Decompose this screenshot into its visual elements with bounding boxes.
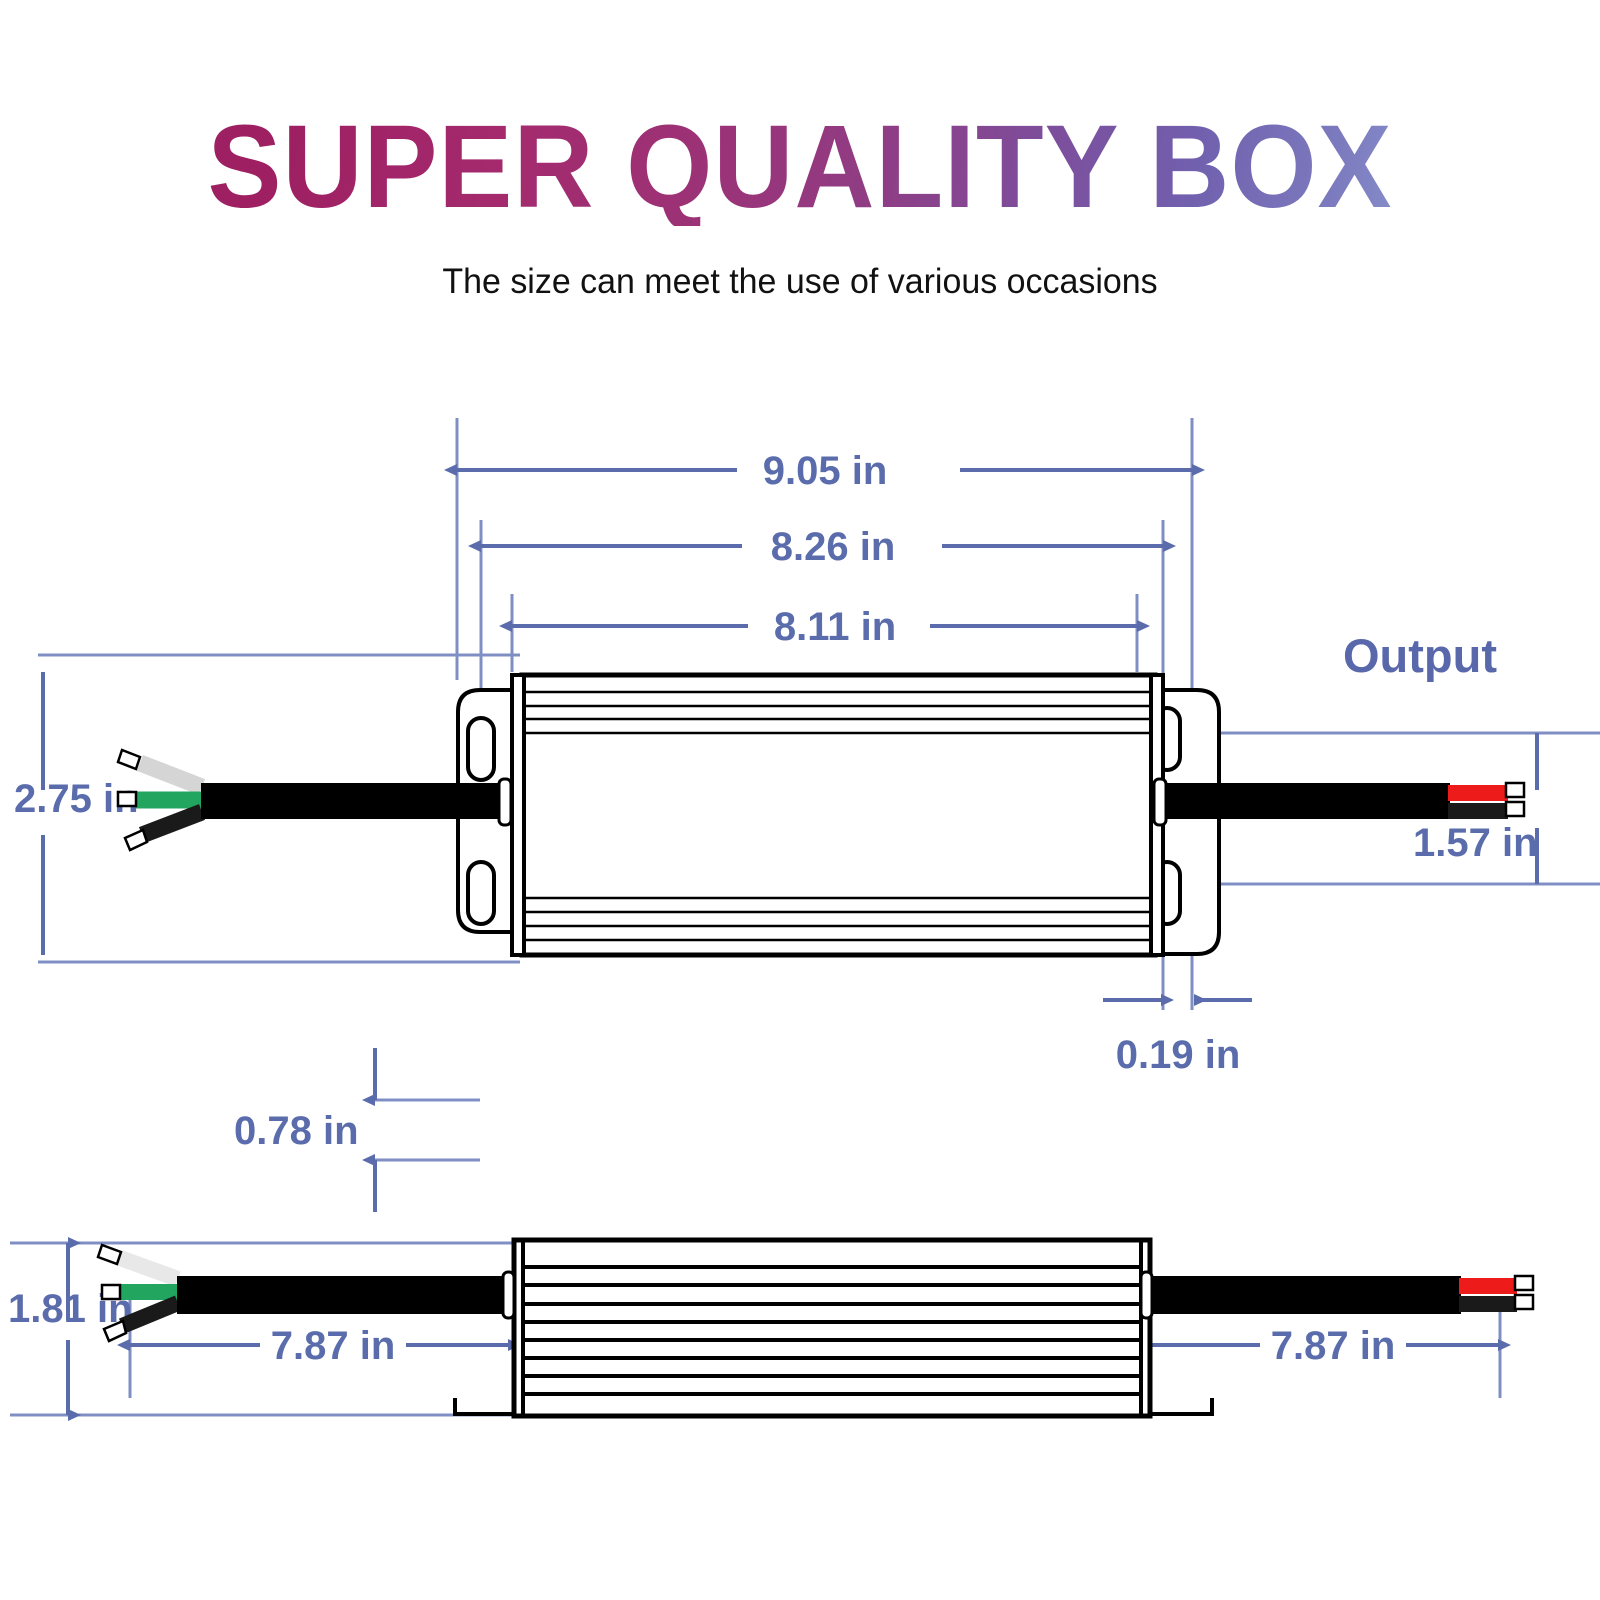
output-label: Output <box>1343 629 1497 682</box>
diagram-page: SUPER QUALITY BOX The size can meet the … <box>0 0 1600 1600</box>
dimension-label: 8.11 in <box>774 605 896 649</box>
wire-red <box>1459 1278 1517 1294</box>
dimension-label: 7.87 in <box>1271 1324 1396 1368</box>
dimension-label: 0.19 in <box>1116 1033 1241 1077</box>
conductor-tip-green <box>118 792 136 806</box>
wire-red <box>1448 785 1508 801</box>
cable-grommet-output <box>1154 779 1166 825</box>
technical-drawing: 9.05 in 8.26 in 8.11 in 2.75 in <box>0 0 1600 1600</box>
conductor-tip-black <box>125 830 147 850</box>
dimension-label: 0.78 in <box>234 1109 359 1153</box>
mounting-slot-bottom-left <box>468 862 494 924</box>
cable-jacket-input <box>201 783 511 819</box>
cable-jacket-output <box>1151 1276 1461 1314</box>
dimension-8-11: 8.11 in <box>512 605 1137 649</box>
dimension-label: 1.57 in <box>1413 821 1538 865</box>
mounting-slot-top-left <box>468 718 494 780</box>
conductor-tip-black <box>1506 802 1524 816</box>
dimension-8-26: 8.26 in <box>481 525 1163 569</box>
wire-black <box>1459 1296 1517 1312</box>
cable-grommet-input <box>503 1272 514 1318</box>
side-view: 1.81 in 7.87 in 7.87 in <box>8 1240 1533 1416</box>
dimension-label: 7.87 in <box>271 1324 396 1368</box>
wire-black <box>1448 803 1508 819</box>
conductor-tip-red <box>1515 1276 1533 1290</box>
conductor-tip-white <box>118 750 140 769</box>
dimension-label: 9.05 in <box>763 449 888 493</box>
dimension-0-19: 0.19 in <box>1103 1000 1252 1077</box>
conductor-tip-white <box>98 1245 121 1264</box>
cable-grommet-input <box>499 779 511 825</box>
top-view: 9.05 in 8.26 in 8.11 in 2.75 in <box>14 418 1600 1212</box>
conductor-tip-green <box>102 1285 120 1299</box>
dimension-7-87-output: 7.87 in <box>1148 1324 1498 1368</box>
cable-grommet-output <box>1141 1272 1152 1318</box>
cable-jacket-output <box>1163 783 1450 819</box>
input-cable-top-view <box>118 750 511 850</box>
mounting-foot-left <box>455 1398 520 1414</box>
dimension-9-05: 9.05 in <box>457 449 1192 493</box>
mounting-foot-right <box>1148 1398 1212 1414</box>
conductor-tip-red <box>1506 783 1524 797</box>
dimension-7-87-input: 7.87 in <box>130 1324 508 1368</box>
dimension-0-78: 0.78 in <box>234 1048 375 1212</box>
dimension-label: 8.26 in <box>771 525 896 569</box>
dimension-2-75: 2.75 in <box>14 672 139 955</box>
housing-end-cap-left <box>512 675 524 955</box>
conductor-tip-black <box>1515 1295 1533 1309</box>
output-cable-top-view <box>1154 779 1524 825</box>
output-cable-side-view <box>1141 1272 1533 1318</box>
cable-jacket-input <box>177 1276 507 1314</box>
